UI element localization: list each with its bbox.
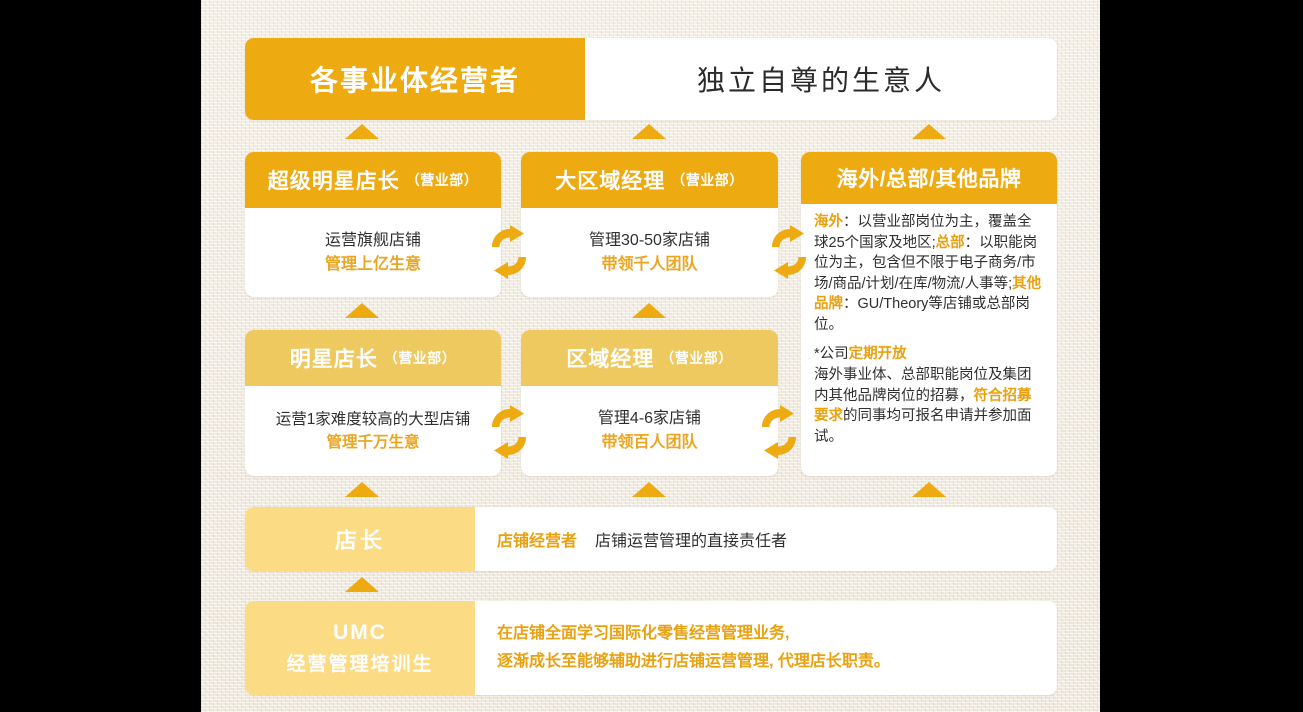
card-star-manager: 明星店长 （营业部） 运营1家难度较高的大型店铺 管理千万生意 <box>245 330 501 476</box>
overseas-note-text-2: 的同事均可报名申请并参加面试。 <box>814 408 1032 445</box>
card-header-big-region-manager: 大区域经理 （营业部） <box>521 152 778 208</box>
card-overseas-hq-other-brands: 海外/总部/其他品牌 海外：以营业部岗位为主，覆盖全球25个国家及地区;总部：以… <box>801 152 1057 476</box>
card-title-super-star-manager: 超级明星店长 <box>268 165 400 195</box>
screenshot-canvas: 各事业体经营者 独立自尊的生意人 超级明星店长 （营业部） 运营旗舰店铺 管理上… <box>0 0 1303 712</box>
card-super-star-manager: 超级明星店长 （营业部） 运营旗舰店铺 管理上亿生意 <box>245 152 501 297</box>
card-umc-trainee: UMC 经营管理培训生 在店铺全面学习国际化零售经营管理业务, 逐渐成长至能够辅… <box>245 601 1057 695</box>
store-manager-title: 店长 <box>245 507 475 571</box>
umc-title-line2: 经营管理培训生 <box>286 650 433 679</box>
card-body-big-region-manager: 管理30-50家店铺 带领千人团队 <box>521 208 778 297</box>
arrow-up-icon-umc-to-manager <box>345 577 379 592</box>
overseas-key-hq: 总部 <box>936 235 965 251</box>
umc-description-line1: 在店铺全面学习国际化零售经营管理业务, <box>497 620 1057 648</box>
banner-right-label: 独立自尊的生意人 <box>585 38 1057 120</box>
card-header-overseas: 海外/总部/其他品牌 <box>801 152 1057 204</box>
swap-icon-super-to-bigregion <box>486 225 532 281</box>
card-region-manager: 区域经理 （营业部） 管理4-6家店铺 带领百人团队 <box>521 330 778 476</box>
card-body-star-manager: 运营1家难度较高的大型店铺 管理千万生意 <box>245 386 501 476</box>
career-path-infographic: 各事业体经营者 独立自尊的生意人 超级明星店长 （营业部） 运营旗舰店铺 管理上… <box>201 0 1100 712</box>
arrow-up-icon-manager-to-star <box>345 482 379 497</box>
top-banner: 各事业体经营者 独立自尊的生意人 <box>245 38 1057 120</box>
arrow-up-icon-region-to-bigregion <box>632 303 666 318</box>
umc-title-line1: UMC <box>333 617 387 650</box>
arrow-up-icon-super-to-banner <box>345 124 379 139</box>
overseas-paragraph-2: *公司定期开放 海外事业体、总部职能岗位及集团内其他品牌岗位的招募，符合招募要求… <box>814 344 1045 447</box>
card-title-star-manager: 明星店长 <box>290 343 378 373</box>
card-body-region-manager: 管理4-6家店铺 带领百人团队 <box>521 386 778 476</box>
card-line1-big-region-manager: 管理30-50家店铺 <box>589 229 710 253</box>
arrow-up-icon-bigregion-to-banner <box>632 124 666 139</box>
card-dept-region-manager: （营业部） <box>660 348 733 368</box>
umc-description: 在店铺全面学习国际化零售经营管理业务, 逐渐成长至能够辅助进行店铺运营管理, 代… <box>475 601 1057 695</box>
card-line1-super-star-manager: 运营旗舰店铺 <box>325 229 421 253</box>
overseas-text-other-brands: ：GU/Theory等店铺或总部岗位。 <box>814 296 1030 333</box>
swap-icon-bigregion-to-overseas <box>766 225 812 281</box>
swap-icon-star-to-region <box>486 405 532 461</box>
card-line2-big-region-manager: 带领千人团队 <box>601 253 697 277</box>
card-header-super-star-manager: 超级明星店长 （营业部） <box>245 152 501 208</box>
overseas-paragraph-1: 海外：以营业部岗位为主，覆盖全球25个国家及地区;总部：以职能岗位为主，包含但不… <box>814 212 1045 335</box>
card-line2-region-manager: 带领百人团队 <box>601 431 697 455</box>
card-line1-region-manager: 管理4-6家店铺 <box>598 407 701 431</box>
card-dept-big-region-manager: （营业部） <box>671 170 744 190</box>
card-line2-super-star-manager: 管理上亿生意 <box>325 253 421 277</box>
card-line2-star-manager: 管理千万生意 <box>326 431 419 454</box>
card-dept-star-manager: （营业部） <box>384 348 457 368</box>
umc-title: UMC 经营管理培训生 <box>245 601 475 695</box>
card-title-big-region-manager: 大区域经理 <box>555 165 665 195</box>
card-body-overseas: 海外：以营业部岗位为主，覆盖全球25个国家及地区;总部：以职能岗位为主，包含但不… <box>801 204 1057 476</box>
store-manager-description-wrap: 店铺经营者 店铺运营管理的直接责任者 <box>475 507 1057 571</box>
overseas-note-prefix: *公司 <box>814 346 849 362</box>
store-manager-description: 店铺运营管理的直接责任者 <box>595 527 787 551</box>
banner-left-label: 各事业体经营者 <box>245 38 585 120</box>
arrow-up-icon-manager-to-overseas <box>912 482 946 497</box>
card-title-overseas: 海外/总部/其他品牌 <box>837 163 1022 193</box>
overseas-key-overseas: 海外 <box>814 214 843 230</box>
arrow-up-icon-star-to-super <box>345 303 379 318</box>
arrow-up-icon-manager-to-region <box>632 482 666 497</box>
card-header-region-manager: 区域经理 （营业部） <box>521 330 778 386</box>
card-dept-super-star-manager: （营业部） <box>406 170 479 190</box>
card-title-region-manager: 区域经理 <box>566 343 654 373</box>
overseas-note-key-regular-open: 定期开放 <box>849 346 907 362</box>
card-store-manager: 店长 店铺经营者 店铺运营管理的直接责任者 <box>245 507 1057 571</box>
arrow-up-icon-overseas-to-banner <box>912 124 946 139</box>
store-manager-tag: 店铺经营者 <box>497 527 577 551</box>
swap-icon-region-to-overseas <box>756 405 802 461</box>
card-header-star-manager: 明星店长 （营业部） <box>245 330 501 386</box>
card-line1-star-manager: 运营1家难度较高的大型店铺 <box>276 408 471 431</box>
umc-description-line2: 逐渐成长至能够辅助进行店铺运营管理, 代理店长职责。 <box>497 648 1057 676</box>
card-big-region-manager: 大区域经理 （营业部） 管理30-50家店铺 带领千人团队 <box>521 152 778 297</box>
card-body-super-star-manager: 运营旗舰店铺 管理上亿生意 <box>245 208 501 297</box>
